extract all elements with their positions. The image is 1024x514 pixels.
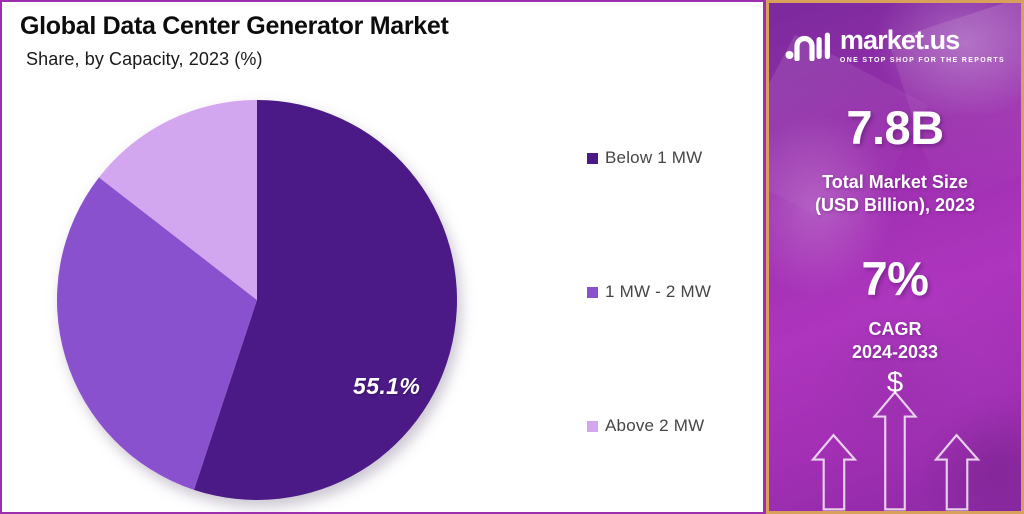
chart-subtitle: Share, by Capacity, 2023 (%) bbox=[26, 49, 449, 70]
brand-logo[interactable]: market.us ONE STOP SHOP FOR THE REPORTS bbox=[769, 3, 1021, 64]
market-size-label: Total Market Size (USD Billion), 2023 bbox=[769, 171, 1021, 217]
infographic-root: Global Data Center Generator Market Shar… bbox=[0, 0, 1024, 514]
arrow-right-icon bbox=[936, 435, 978, 509]
legend-label: Below 1 MW bbox=[605, 148, 702, 168]
dollar-sign-icon: $ bbox=[887, 371, 903, 399]
market-size-label-line1: Total Market Size bbox=[769, 171, 1021, 194]
legend-swatch-icon bbox=[587, 153, 598, 164]
legend-item-above-2-mw[interactable]: Above 2 MW bbox=[587, 415, 762, 437]
brand-tagline: ONE STOP SHOP FOR THE REPORTS bbox=[840, 57, 1005, 64]
pie-slices bbox=[57, 100, 461, 504]
page-title: Global Data Center Generator Market bbox=[20, 12, 449, 41]
brand-name: market.us bbox=[840, 27, 1005, 54]
growth-arrows-graphic: $ bbox=[769, 371, 1021, 511]
dollar-arrow-center-icon bbox=[874, 392, 915, 509]
chart-panel: Global Data Center Generator Market Shar… bbox=[0, 0, 766, 514]
market-size-label-line2: (USD Billion), 2023 bbox=[769, 194, 1021, 217]
pie-slice-label-below-1-mw: 55.1% bbox=[353, 373, 420, 400]
chart-legend: Below 1 MW 1 MW - 2 MW Above 2 MW bbox=[587, 147, 762, 437]
legend-item-1-2-mw[interactable]: 1 MW - 2 MW bbox=[587, 281, 762, 303]
cagr-value: 7% bbox=[769, 251, 1021, 306]
legend-item-below-1-mw[interactable]: Below 1 MW bbox=[587, 147, 762, 169]
market-us-logo-icon bbox=[785, 31, 831, 61]
legend-label: Above 2 MW bbox=[605, 416, 704, 436]
legend-label: 1 MW - 2 MW bbox=[605, 282, 711, 302]
cagr-label: CAGR bbox=[769, 318, 1021, 341]
arrow-left-icon bbox=[813, 435, 855, 509]
legend-swatch-icon bbox=[587, 421, 598, 432]
cagr-range: 2024-2033 bbox=[769, 342, 1021, 363]
stats-content: market.us ONE STOP SHOP FOR THE REPORTS … bbox=[769, 3, 1021, 511]
pie-chart: 55.1% bbox=[57, 100, 461, 504]
legend-swatch-icon bbox=[587, 287, 598, 298]
stats-panel: market.us ONE STOP SHOP FOR THE REPORTS … bbox=[766, 0, 1024, 514]
brand-text: market.us ONE STOP SHOP FOR THE REPORTS bbox=[840, 27, 1005, 64]
chart-header: Global Data Center Generator Market Shar… bbox=[20, 12, 449, 70]
market-size-value: 7.8B bbox=[769, 100, 1021, 155]
